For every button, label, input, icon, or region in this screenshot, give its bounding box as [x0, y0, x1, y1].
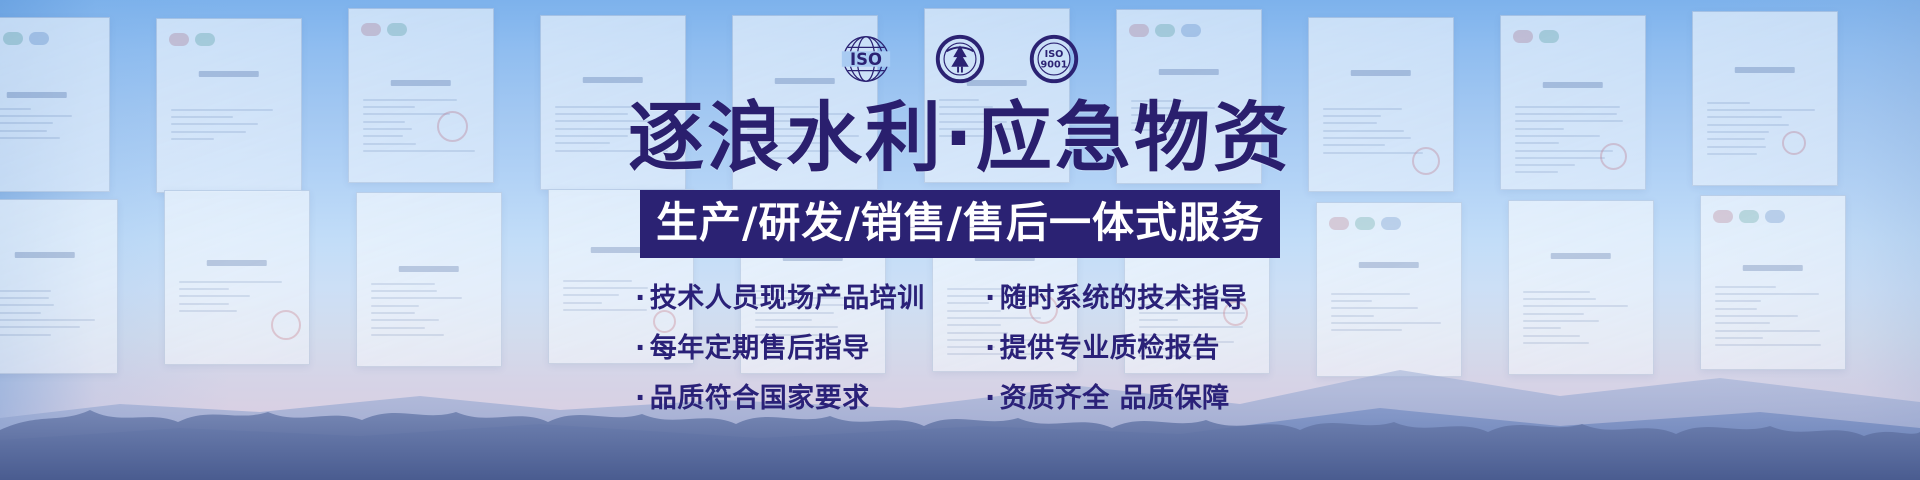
page-title: 逐浪水利·应急物资	[628, 96, 1292, 180]
feature-label: 每年定期售后指导	[650, 330, 870, 368]
feature-list: ·技术人员现场产品培训·随时系统的技术指导·每年定期售后指导·提供专业质检报告·…	[635, 280, 1285, 418]
headline-block: 逐浪水利·应急物资 生产/研发/销售/售后一体式服务 ·技术人员现场产品培训·随…	[0, 96, 1920, 418]
feature-item: ·品质符合国家要求	[635, 380, 965, 418]
feature-item: ·提供专业质检报告	[985, 330, 1285, 368]
feature-label: 资质齐全 品质保障	[1000, 380, 1230, 418]
bullet-dot-icon: ·	[635, 280, 646, 318]
service-subtitle-bar: 生产/研发/销售/售后一体式服务	[640, 190, 1280, 258]
bullet-dot-icon: ·	[635, 330, 646, 368]
feature-item: ·随时系统的技术指导	[985, 280, 1285, 318]
feature-label: 随时系统的技术指导	[1000, 280, 1248, 318]
feature-item: ·技术人员现场产品培训	[635, 280, 965, 318]
bullet-dot-icon: ·	[985, 280, 996, 318]
promo-banner: ISO ISO 9001 逐浪水利·应急物资 生产/研发/	[0, 0, 1920, 480]
certification-badge-row: ISO ISO 9001	[0, 30, 1920, 88]
feature-label: 技术人员现场产品培训	[650, 280, 925, 318]
iso-9001-badge: ISO 9001	[1025, 30, 1083, 88]
feature-item: ·每年定期售后指导	[635, 330, 965, 368]
bullet-dot-icon: ·	[985, 330, 996, 368]
svg-text:9001: 9001	[1041, 60, 1068, 71]
feature-label: 提供专业质检报告	[1000, 330, 1220, 368]
svg-text:ISO: ISO	[850, 50, 882, 69]
feature-label: 品质符合国家要求	[650, 380, 870, 418]
feature-item: ·资质齐全 品质保障	[985, 380, 1285, 418]
iso-logo-badge: ISO	[837, 30, 895, 88]
svg-text:ISO: ISO	[1045, 49, 1064, 60]
bullet-dot-icon: ·	[635, 380, 646, 418]
iso-14000-badge	[931, 30, 989, 88]
bullet-dot-icon: ·	[985, 380, 996, 418]
